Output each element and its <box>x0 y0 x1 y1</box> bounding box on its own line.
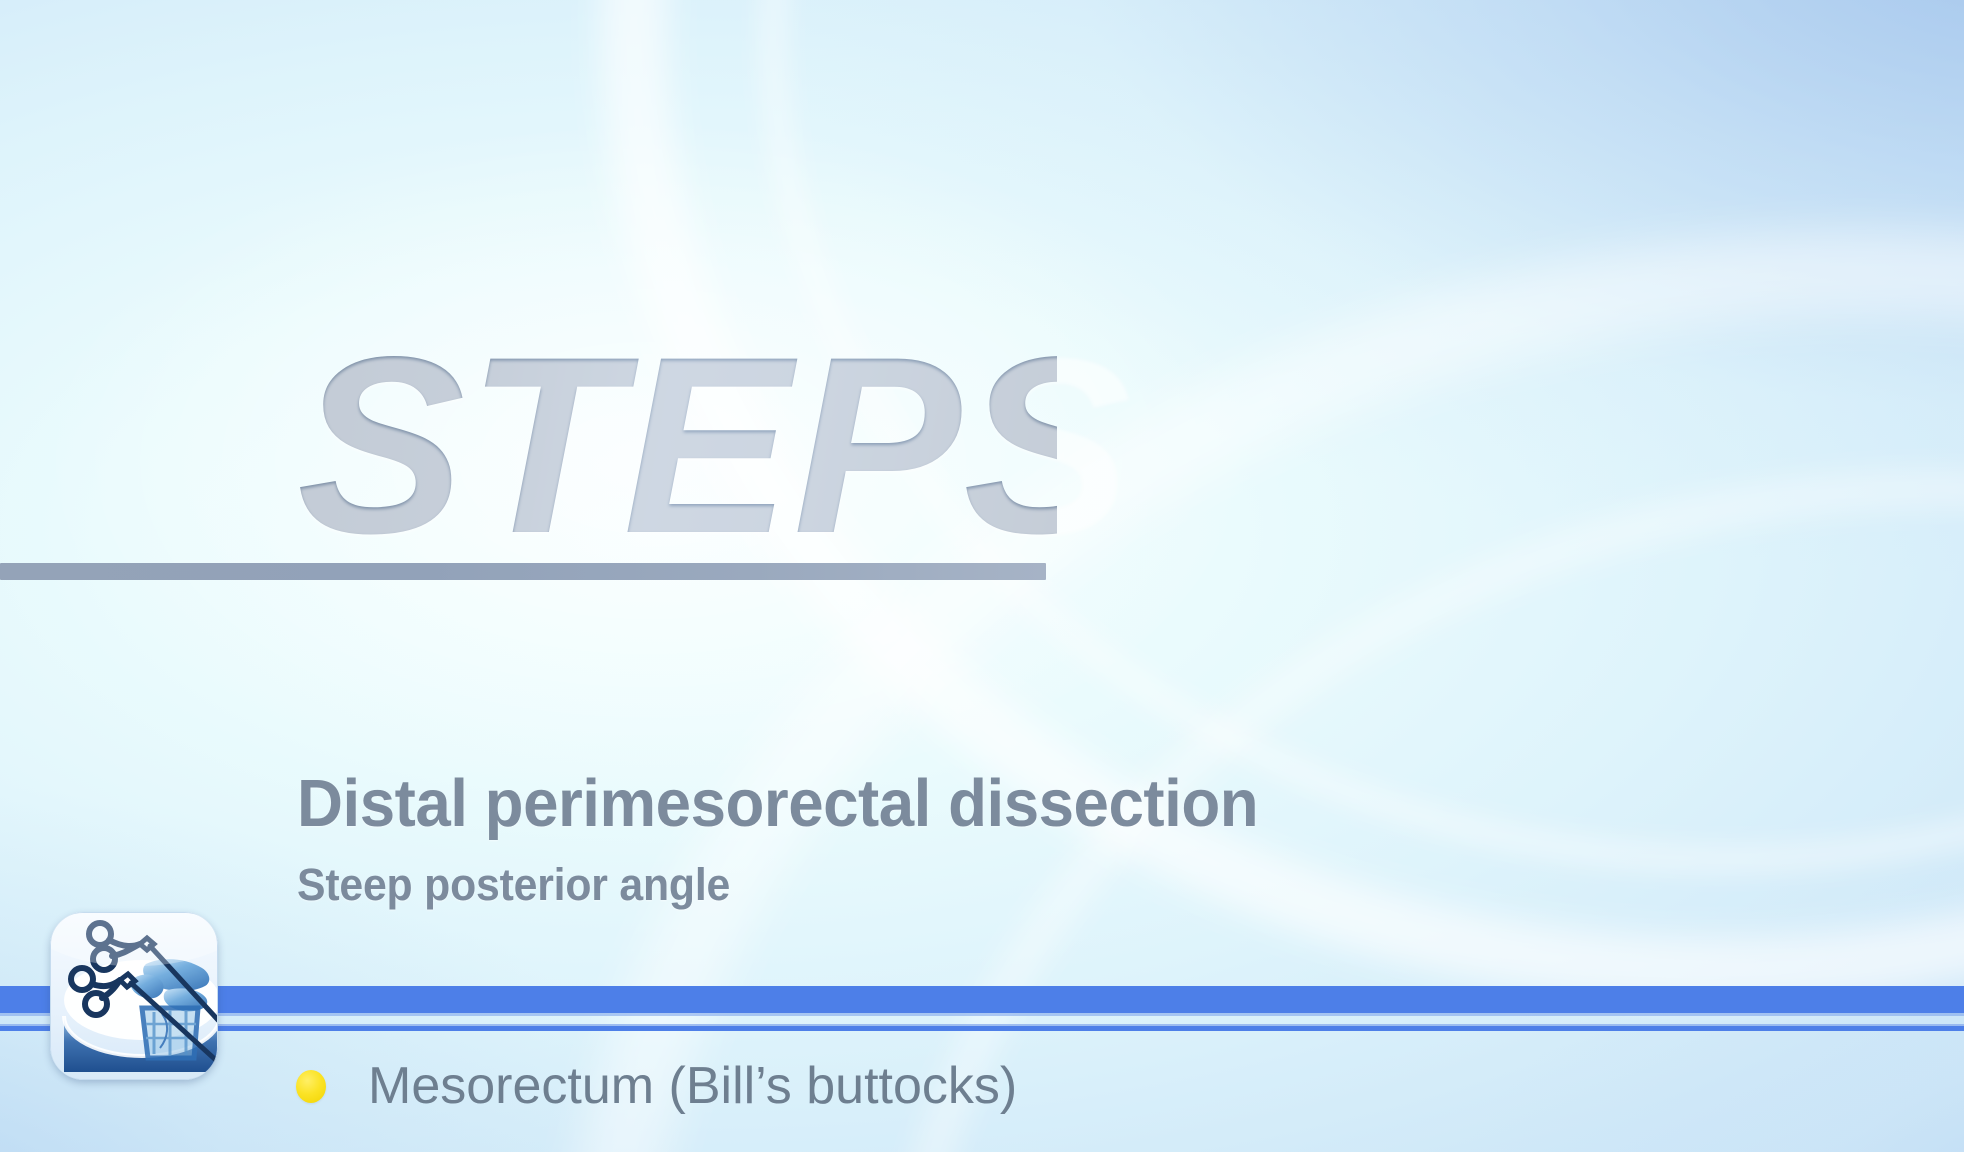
subtitle: Distal perimesorectal dissection <box>297 769 1258 839</box>
blue-band-shadow <box>0 1013 1964 1016</box>
list-item: Mesorectum (Bill’s buttocks) <box>296 1060 1017 1112</box>
bullet-dot-icon <box>296 1070 326 1103</box>
slide-canvas: STEPS Distal perimesorectal dissection S… <box>0 0 1964 1152</box>
surgical-app-icon <box>50 912 218 1080</box>
title-divider-rule <box>0 563 1046 580</box>
blue-band-thick <box>0 986 1964 1013</box>
sub-subtitle: Steep posterior angle <box>297 862 730 909</box>
title-block: STEPS Distal perimesorectal dissection S… <box>0 0 1964 1152</box>
list-item-label: Mesorectum (Bill’s buttocks) <box>368 1060 1017 1112</box>
blue-band-thin <box>0 1026 1964 1031</box>
page-title: STEPS <box>297 320 1057 572</box>
